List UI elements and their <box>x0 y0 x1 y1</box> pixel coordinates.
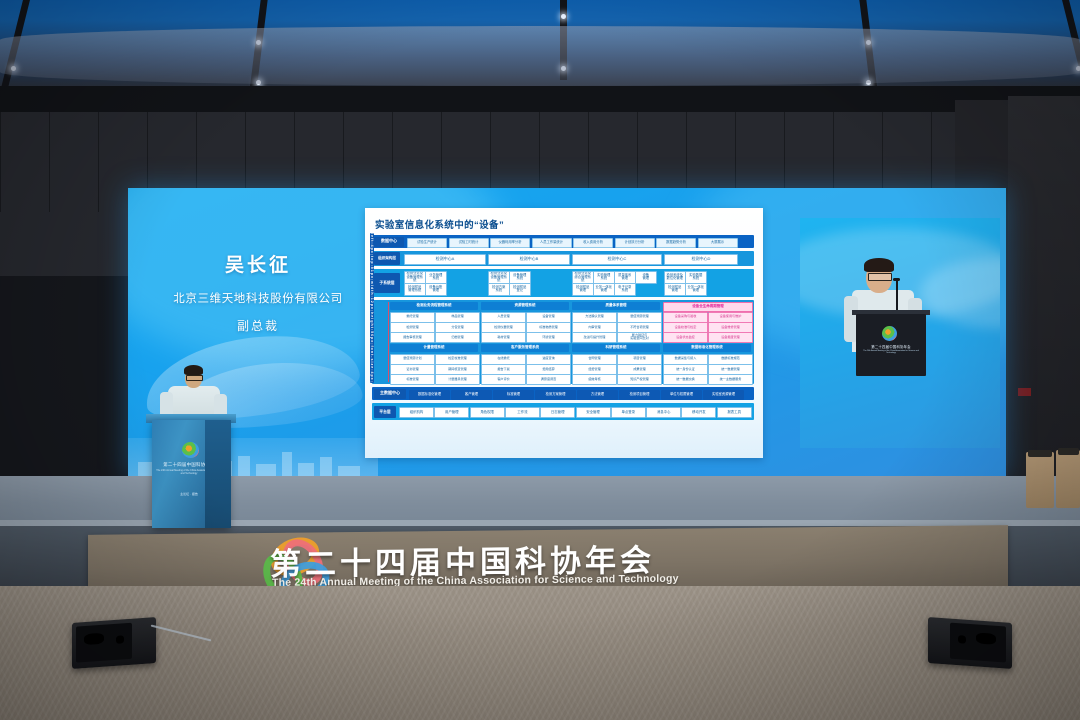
slide-cell: 人员工作量统计 <box>532 238 572 248</box>
slide-cell: 检测业务及 综合管理系统 <box>572 271 594 284</box>
slide-cell: 实验室资源管理 <box>703 390 744 400</box>
trash-bin-2-lid <box>1058 448 1079 455</box>
slide-row-label: 数据中心 <box>374 237 404 247</box>
wall-seam <box>98 112 99 212</box>
speaker-organization: 北京三维天地科技股份有限公司 <box>138 290 378 306</box>
slide-cell: 在线委托 <box>481 354 526 365</box>
stage-monitor-left <box>72 617 156 669</box>
ceiling-spotlight <box>561 14 566 19</box>
slide-row-label: 组织架构层 <box>374 252 400 265</box>
slide-cell: 大屏展示 <box>698 238 738 248</box>
slide-cell: 改进与提升管理 <box>572 332 617 343</box>
slide-row-label: 子系统层 <box>374 273 400 293</box>
slide-cell: 检测业务及 设备管理系统 <box>404 271 426 284</box>
slide-cell: 设备管理 系统 <box>509 271 531 284</box>
speaker-glasses <box>186 375 203 381</box>
slide-cell: 检测业务及 设备管理系统 <box>488 271 510 284</box>
slide-cell: 质量体系 管理 <box>614 271 636 284</box>
slide-cell: 数据标准规范 <box>708 354 753 365</box>
slide-group-header: 质量体系管理 <box>572 302 660 310</box>
slide-group-header: 科研管理系统 <box>572 344 660 352</box>
slide-cell: 绩效考核 <box>572 374 617 385</box>
trash-bin-1-lid <box>1028 450 1052 457</box>
slide-cell: 计量器具管理 <box>435 374 480 385</box>
slide-cell: 客户评价 <box>481 374 526 385</box>
speaker-title: 副总裁 <box>138 317 378 334</box>
slide-group-header: 资源管理系统 <box>481 302 569 310</box>
slide-cell: 设备 管理 <box>635 271 657 284</box>
exit-sign <box>1018 388 1031 396</box>
slide-cell: 检测系统及 数位化管理 <box>664 271 686 284</box>
slide-cell: 检测项目管理 <box>619 390 660 400</box>
slide-cell: 角色权限 <box>470 407 505 418</box>
slide-cell: 收入费用分析 <box>573 238 613 248</box>
slide-cell: 仪器利用率分析 <box>490 238 530 248</box>
trash-bin-2 <box>1056 450 1080 508</box>
slide-cell: 数据采集与接入 <box>663 354 708 365</box>
slide-cell: 电子记录 系统 <box>614 283 636 296</box>
wall-seam <box>0 112 1 212</box>
slide-cell: 检测样品 管理系统 <box>404 283 426 296</box>
slide-cell: 日志管理 <box>540 407 575 418</box>
slide-group-header: 检测业务流程管理系统 <box>390 302 478 310</box>
ceiling-panel <box>0 26 1080 86</box>
conference-photo: 吴长征 北京三维天地科技股份有限公司 副总裁 实验室信息化系统中的“设备” 数据… <box>0 0 1080 720</box>
slide-cell: 检测样品 登记 <box>509 283 531 296</box>
slide-cell: 检测方案 系统 <box>488 283 510 296</box>
led-screen: 吴长征 北京三维天地科技股份有限公司 副总裁 实验室信息化系统中的“设备” 数据… <box>128 188 1006 478</box>
slide-cell: 报表工具 <box>717 407 752 418</box>
slide-cell: 统一数据交换 <box>663 374 708 385</box>
speaker-hair <box>184 365 203 375</box>
stage-monitor-right <box>928 617 1012 669</box>
slide-cell: 实验数据 系统 <box>685 271 707 284</box>
slide-cell: 合同管理 <box>572 354 617 365</box>
slide-cell: 项目管理 <box>617 354 662 365</box>
slide-cell: 业务一体化 管理 <box>593 283 615 296</box>
slide-cell: 满意度调查 <box>526 374 571 385</box>
slide-cell: 检测方案管理 <box>535 390 576 400</box>
presentation-slide: 实验室信息化系统中的“设备” 数据中心试验生产统计试验工时统计仪器利用率分析人员… <box>365 208 763 458</box>
slide-cell: 检定校准管理 <box>435 354 480 365</box>
podium-logo-icon <box>182 442 199 458</box>
slide-cell: 单点登录 <box>611 407 646 418</box>
slide-cell: 量值溯源计划 <box>390 354 435 365</box>
slide-cell: 工作流 <box>505 407 540 418</box>
slide-cell: 试验生产统计 <box>407 238 447 248</box>
slide-cell: 数据标准化管理 <box>409 390 450 400</box>
slide-cell: 计划执行分析 <box>615 238 655 248</box>
podium-side <box>205 420 231 528</box>
live-video-feed: 第二十四届中国科协年会 The 24th Annual Meeting of t… <box>800 218 1000 448</box>
trash-bin-1 <box>1026 452 1054 508</box>
slide-cell: 进度查询 <box>526 354 571 365</box>
slide-cell: 检测样品 管理 <box>664 283 686 296</box>
slide-cell: 业务一体化 管理 <box>685 283 707 296</box>
slide-cell: 标准管理 <box>390 374 435 385</box>
wall-header-band <box>0 86 1080 112</box>
slide-cell: 设备采购与验收 <box>663 312 708 323</box>
slide-cell: 统一主数据服务 <box>708 374 753 385</box>
feed-podium-event-label-en: The 24th Annual Meeting of the China Ass… <box>862 350 920 354</box>
slide-cell: 用户管理 <box>434 407 469 418</box>
slide-cell: 设备状态监控 <box>663 332 708 343</box>
slide-cell: 人员管理 <box>481 312 526 323</box>
slide-cell: 方法确认管理 <box>572 312 617 323</box>
slide-cell: 业务管理 系统 <box>425 271 447 284</box>
slide-cell: 设备管理 <box>526 312 571 323</box>
speaker-name-panel: 吴长征 北京三维天地科技股份有限公司 副总裁 <box>138 250 378 334</box>
slide-cell: 方法管理 <box>577 390 618 400</box>
slide-cell: 设备台账 管理 <box>425 283 447 296</box>
slide-group-header: 计量管理系统 <box>390 344 478 352</box>
slide-cell: 数据趋势分析 <box>656 238 696 248</box>
slide-cell: 单位与权限管理 <box>661 390 702 400</box>
slide-cell: 耗材管理 <box>481 332 526 343</box>
slide-cell: 检测中心B <box>488 254 570 265</box>
slide-row-label vert: left:4px;top:81px;width:12px;height:56px… <box>370 233 374 383</box>
slide-title: 实验室信息化系统中的“设备” <box>375 217 504 231</box>
slide-cell: 检测中心D <box>664 254 738 265</box>
floor-texture <box>0 586 1080 720</box>
slide-cell: 消息中心 <box>646 407 681 418</box>
slide-cell: 组织机构 <box>399 407 434 418</box>
slide-group-header: 数据标准化管理系统 <box>663 344 751 352</box>
wall-seam <box>49 112 50 212</box>
slide-cell: 检测样品 管理 <box>572 283 594 296</box>
slide-cell: 报告审核管理 <box>390 332 435 343</box>
slide-cell: 客户管理 <box>451 390 492 400</box>
slide-cell: 量值溯源管理 <box>617 312 662 323</box>
slide-cell: 检测中心C <box>572 254 662 265</box>
slide-diagram: 数据中心试验生产统计试验工时统计仪器利用率分析人员工作量统计收入费用分析计划执行… <box>370 233 758 453</box>
slide-cell: 检测中心A <box>404 254 486 265</box>
speaker-name: 吴长征 <box>138 250 378 277</box>
slide-row-label: 平台层 <box>374 406 396 418</box>
slide-cell: 环境管理 <box>526 332 571 343</box>
slide-cell: 归档管理 <box>435 332 480 343</box>
slide-cell: 样品管理 <box>435 312 480 323</box>
slide-cell: 安全管理 <box>576 407 611 418</box>
slide-row-label: 主数据中心 <box>374 389 406 399</box>
slide-cell: 设备使用与维护 <box>708 312 753 323</box>
slide-cell: 实验管理 系统 <box>593 271 615 284</box>
slide-cell: 委托管理 <box>390 312 435 323</box>
slide-cell: 标准管理 <box>493 390 534 400</box>
feed-podium-event-label: 第二十四届中国科协年会 <box>862 344 920 349</box>
slide-cell: 移动开发 <box>681 407 716 418</box>
slide-cell: 知识产权管理 <box>617 374 662 385</box>
slide-cell: 试验工时统计 <box>449 238 489 248</box>
slide-group-header: 客户服务管理系统 <box>481 344 569 352</box>
slide-cell: 能力验证与 实验室间比对 <box>617 332 662 343</box>
slide-group-header: 设备全生命周期管理 <box>663 302 753 312</box>
slide-accent-line <box>388 302 389 382</box>
slide-cell: 设备报废管理 <box>708 332 753 343</box>
